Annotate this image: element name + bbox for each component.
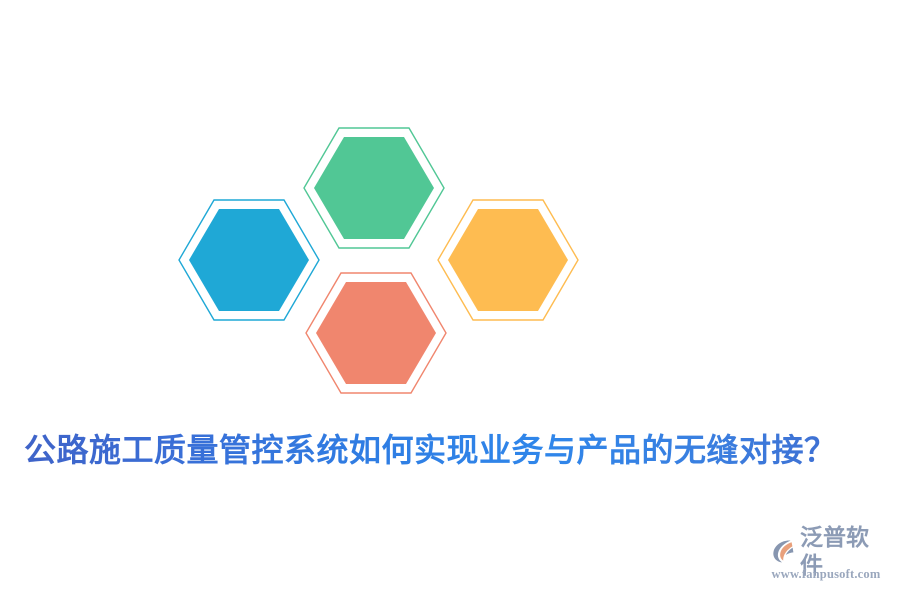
- brand-row: 泛普软件: [770, 536, 882, 566]
- blue-hexagon: [179, 200, 319, 320]
- fanpu-logo-icon: [770, 537, 798, 565]
- orange-hexagon: [438, 200, 578, 320]
- page-title: 公路施工质量管控系统如何实现业务与产品的无缝对接？: [24, 428, 880, 472]
- green-hexagon: [304, 128, 444, 248]
- orange-hexagon-fill: [448, 209, 568, 311]
- salmon-hexagon: [306, 273, 446, 393]
- salmon-hexagon-fill: [316, 282, 436, 384]
- green-hexagon-fill: [314, 137, 434, 239]
- blue-hexagon-fill: [189, 209, 309, 311]
- hexagon-cluster-graphic: [0, 0, 900, 420]
- page-root: 公路施工质量管控系统如何实现业务与产品的无缝对接？ 泛普软件 www.fanpu…: [0, 0, 900, 600]
- page-title-text: 公路施工质量管控系统如何实现业务与产品的无缝对接？: [24, 430, 837, 470]
- brand-url-text: www.fanpusoft.com: [770, 567, 882, 582]
- brand-watermark: 泛普软件 www.fanpusoft.com: [770, 536, 882, 582]
